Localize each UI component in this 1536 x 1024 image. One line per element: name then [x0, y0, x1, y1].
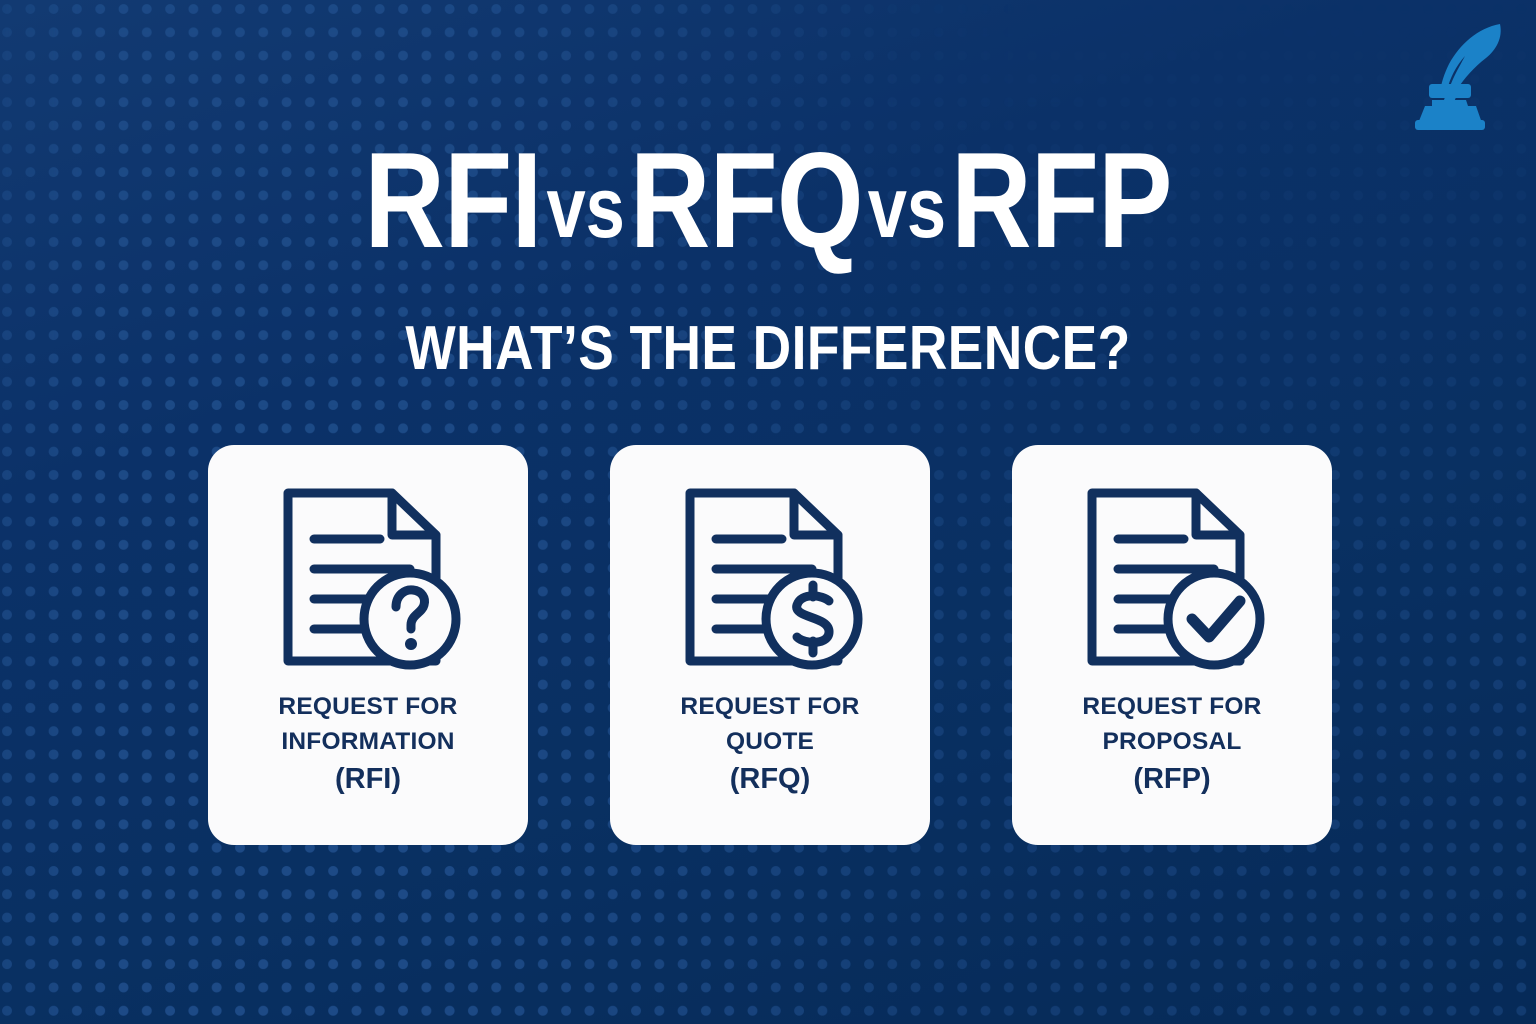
title-vs-2: vs — [863, 160, 951, 256]
card-label-rfp: REQUEST FOR PROPOSAL — [1082, 689, 1261, 759]
card-label-line2: PROPOSAL — [1102, 728, 1241, 755]
card-label-rfi: REQUEST FOR INFORMATION — [278, 689, 457, 759]
document-question-icon — [268, 477, 468, 677]
page-subtitle: WHAT’S THE DIFFERENCE? — [108, 316, 1429, 382]
quill-inkwell-icon — [1404, 22, 1508, 132]
card-label-line1: REQUEST FOR — [1082, 693, 1261, 720]
card-abbr-rfi: (RFI) — [335, 759, 401, 799]
card-abbr-rfp: (RFP) — [1133, 759, 1210, 799]
card-label-line2: QUOTE — [726, 728, 814, 755]
card-label-rfq: REQUEST FOR QUOTE — [680, 689, 859, 759]
card-label-line1: REQUEST FOR — [278, 693, 457, 720]
infographic-canvas: RFIvsRFQvsRFP WHAT’S THE DIFFERENCE? — [0, 0, 1536, 1024]
card-label-line1: REQUEST FOR — [680, 693, 859, 720]
card-label-line2: INFORMATION — [281, 728, 454, 755]
card-abbr-rfq: (RFQ) — [730, 759, 811, 799]
card-rfp: REQUEST FOR PROPOSAL (RFP) — [1012, 445, 1332, 845]
title-rfi: RFI — [364, 124, 541, 276]
heading-block: RFIvsRFQvsRFP WHAT’S THE DIFFERENCE? — [0, 140, 1536, 382]
page-title: RFIvsRFQvsRFP — [138, 140, 1398, 278]
title-vs-1: vs — [542, 160, 630, 256]
title-rfp: RFP — [951, 124, 1172, 276]
document-check-icon — [1072, 477, 1272, 677]
card-rfi: REQUEST FOR INFORMATION (RFI) — [208, 445, 528, 845]
card-row: REQUEST FOR INFORMATION (RFI) — [208, 445, 1332, 845]
card-rfq: REQUEST FOR QUOTE (RFQ) — [610, 445, 930, 845]
title-rfq: RFQ — [630, 124, 863, 276]
document-dollar-icon — [670, 477, 870, 677]
